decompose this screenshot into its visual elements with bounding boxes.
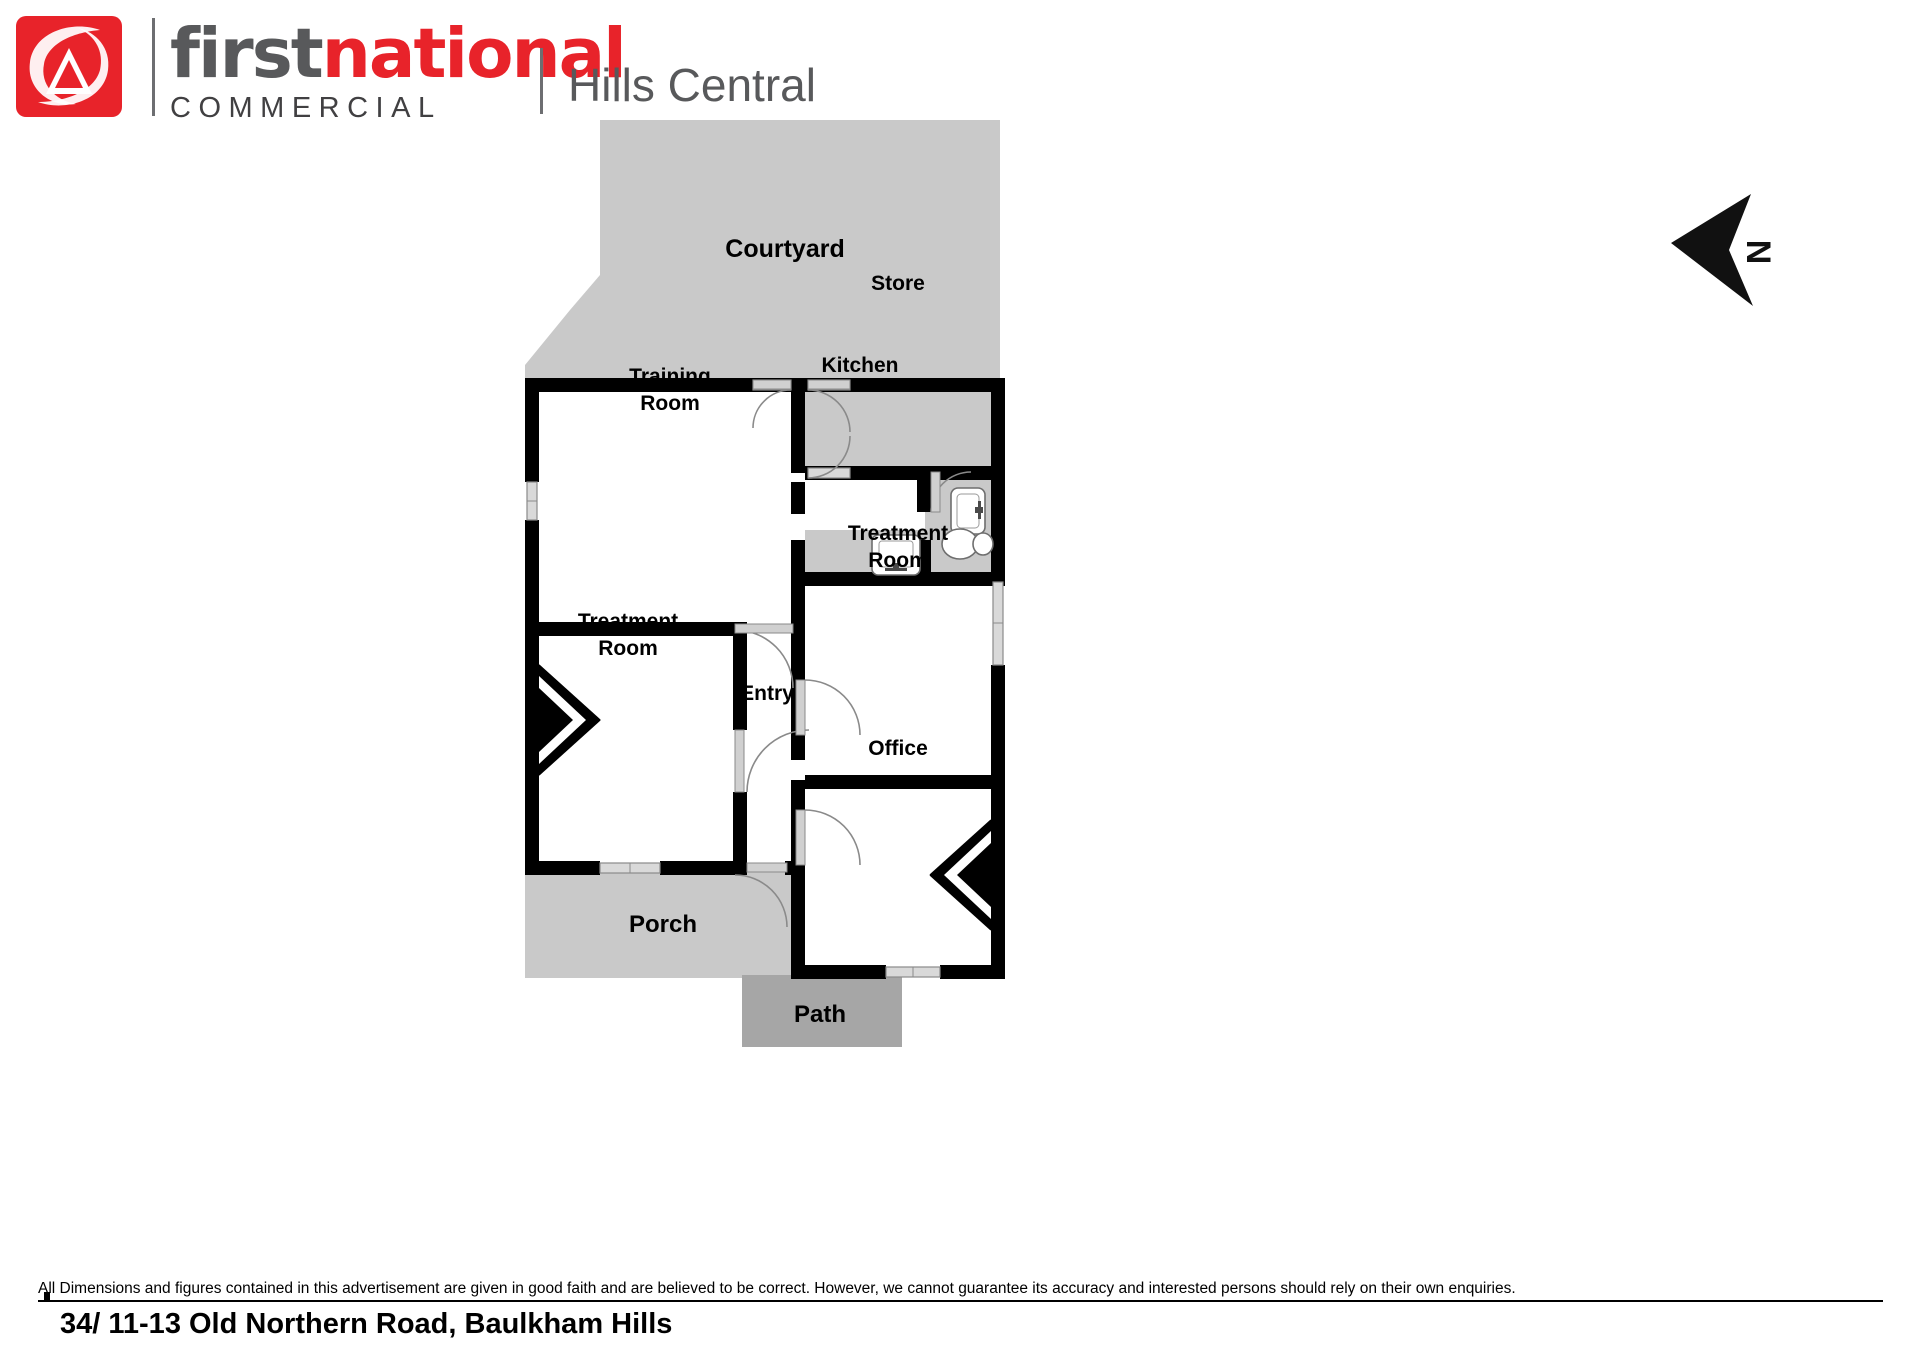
training-room-label-line1: Training <box>629 365 711 388</box>
north-arrow-icon: N <box>1655 180 1795 320</box>
treatment-room-right-label-line2: Room <box>868 549 928 572</box>
north-label: N <box>1739 240 1777 265</box>
brand-sub-divider <box>540 48 543 114</box>
office-name: Hills Central <box>568 58 816 112</box>
courtyard-label: Courtyard <box>725 235 844 263</box>
first-national-swirl-logo <box>14 14 124 119</box>
porch-label: Porch <box>629 911 697 938</box>
office-label: Office <box>868 737 928 760</box>
toilet-icon <box>942 529 993 559</box>
treatment-room-left-label-line1: Treatment <box>578 610 678 633</box>
brand-header: firstnational COMMERCIAL Hills Central <box>0 0 1030 135</box>
brand-first-text: first <box>170 14 322 94</box>
entry-label: Entry <box>740 682 794 705</box>
wordmark: firstnational COMMERCIAL <box>170 18 625 125</box>
path-label: Path <box>794 1001 846 1028</box>
floorplan: Courtyard Porch Path <box>0 120 1560 1270</box>
room-store-fill <box>805 382 1000 467</box>
disclaimer-rule <box>38 1300 1883 1302</box>
kitchen-label: Kitchen <box>821 354 898 377</box>
treatment-room-right-label-line1: Treatment <box>848 522 948 545</box>
property-address: 34/ 11-13 Old Northern Road, Baulkham Hi… <box>60 1308 672 1341</box>
logo-divider <box>152 18 155 116</box>
store-label: Store <box>871 272 925 295</box>
training-room-label-line2: Room <box>640 392 700 415</box>
disclaimer-text: All Dimensions and figures contained in … <box>38 1280 1883 1298</box>
wash-basin-icon <box>951 488 985 534</box>
disclaimer-band: All Dimensions and figures contained in … <box>38 1280 1883 1302</box>
treatment-room-left-label-line2: Room <box>598 637 658 660</box>
